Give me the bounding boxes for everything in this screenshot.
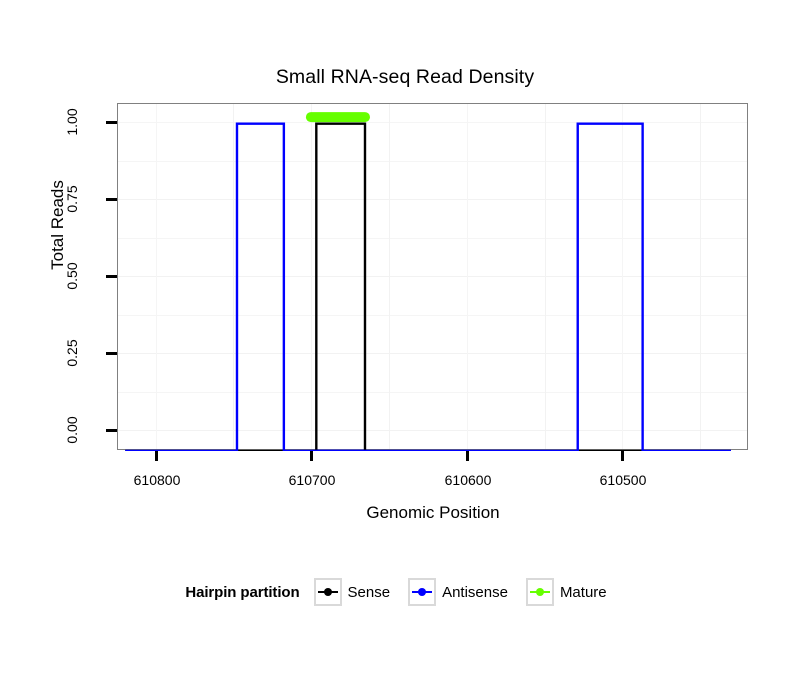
series-layer [118, 104, 749, 451]
y-tick-label: 0.25 [64, 327, 80, 379]
legend-label-mature: Mature [560, 584, 607, 601]
legend-item-sense[interactable]: Sense [314, 578, 401, 606]
y-tick-mark [106, 429, 117, 432]
series-line-antisense [125, 124, 731, 451]
legend-key-mature-icon [526, 578, 554, 606]
y-tick-label: 0.75 [64, 173, 80, 225]
legend-label-sense: Sense [348, 584, 391, 601]
x-axis-label: Genomic Position [117, 503, 749, 523]
legend-key-antisense-icon [408, 578, 436, 606]
legend-item-antisense[interactable]: Antisense [408, 578, 518, 606]
plot-panel [117, 103, 748, 450]
legend-title: Hairpin partition [185, 584, 299, 601]
y-tick-mark [106, 352, 117, 355]
chart-title: Small RNA-seq Read Density [0, 66, 810, 89]
legend-label-antisense: Antisense [442, 584, 508, 601]
x-tick-label: 610600 [408, 472, 528, 488]
y-tick-label: 0.00 [64, 404, 80, 456]
legend: Hairpin partition Sense Antisense Mature [0, 578, 810, 606]
x-tick-mark [155, 450, 158, 461]
legend-key-sense-icon [314, 578, 342, 606]
x-tick-label: 610700 [252, 472, 372, 488]
y-tick-label: 0.50 [64, 250, 80, 302]
x-tick-mark [466, 450, 469, 461]
series-line-sense [125, 124, 731, 451]
x-tick-label: 610500 [563, 472, 683, 488]
chart-canvas: Small RNA-seq Read Density Total Reads G… [0, 0, 810, 690]
y-tick-mark [106, 198, 117, 201]
y-tick-mark [106, 121, 117, 124]
legend-item-mature[interactable]: Mature [526, 578, 617, 606]
x-tick-mark [310, 450, 313, 461]
y-tick-label: 1.00 [64, 96, 80, 148]
x-tick-label: 610800 [97, 472, 217, 488]
x-tick-mark [621, 450, 624, 461]
y-tick-mark [106, 275, 117, 278]
